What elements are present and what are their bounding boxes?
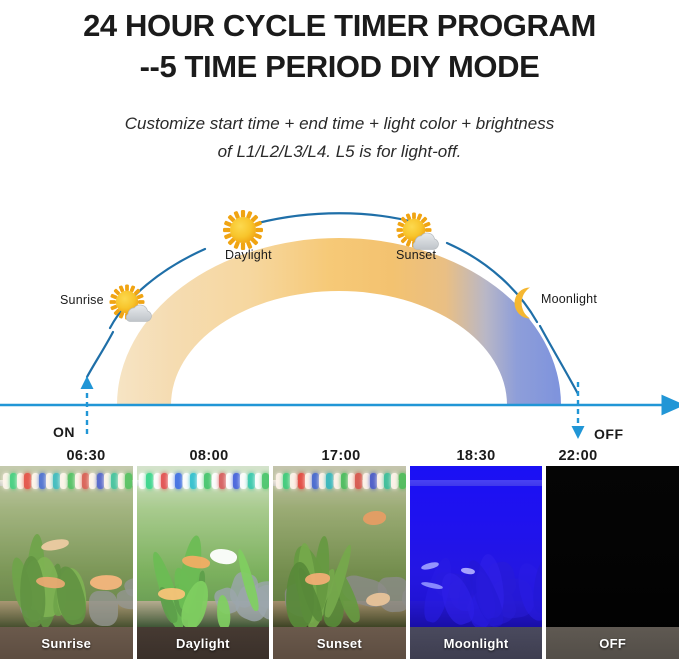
photo-caption: Daylight [137, 627, 270, 659]
light-spectrum-arc [117, 238, 561, 405]
subtitle-line-2: of L1/L2/L3/L4. L5 is for light-off. [0, 138, 679, 166]
photo-caption: Moonlight [410, 627, 543, 659]
off-marker [572, 382, 585, 439]
tick-label-4: 22:00 [558, 448, 597, 464]
sunset-icon [397, 213, 439, 250]
tick-label-0: 06:30 [66, 448, 105, 464]
lighting-mode-photo-strip: SunriseDaylightSunsetMoonlightOFF [0, 466, 679, 659]
label-sunset: Sunset [396, 248, 436, 262]
connector-daylight-sunset [258, 213, 417, 223]
timeline-diagram: Sunrise Daylight Sunset Moonlight ON OFF… [0, 186, 679, 466]
daylight-icon [223, 210, 263, 250]
tick-label-1: 08:00 [189, 448, 228, 464]
sunrise-icon [110, 285, 152, 322]
label-sunrise: Sunrise [60, 293, 104, 307]
subtitle-line-1: Customize start time + end time + light … [0, 110, 679, 138]
photo-panel-sunrise: Sunrise [0, 466, 133, 659]
infographic-page: 24 HOUR CYCLE TIMER PROGRAM --5 TIME PER… [0, 0, 679, 659]
page-title: 24 HOUR CYCLE TIMER PROGRAM --5 TIME PER… [0, 0, 679, 86]
photo-caption: Sunset [273, 627, 406, 659]
photo-panel-moonlight: Moonlight [410, 466, 543, 659]
photo-panel-off: OFF [546, 466, 679, 659]
diagram-canvas [0, 186, 679, 466]
photo-panel-daylight: Daylight [137, 466, 270, 659]
tick-label-2: 17:00 [321, 448, 360, 464]
photo-caption: OFF [546, 627, 679, 659]
axis-label-off: OFF [594, 426, 624, 442]
title-line-2: --5 TIME PERIOD DIY MODE [0, 45, 679, 86]
tick-label-3: 18:30 [456, 448, 495, 464]
on-arrowhead-up [81, 376, 94, 389]
tail-sunrise [87, 332, 113, 377]
label-daylight: Daylight [225, 248, 272, 262]
daylight-sun-disc [230, 217, 256, 243]
page-subtitle: Customize start time + end time + light … [0, 110, 679, 166]
photo-caption: Sunrise [0, 627, 133, 659]
off-arrowhead-down [572, 426, 585, 439]
axis-label-on: ON [53, 424, 75, 440]
label-moonlight: Moonlight [541, 292, 597, 306]
photo-panel-sunset: Sunset [273, 466, 406, 659]
title-line-1: 24 HOUR CYCLE TIMER PROGRAM [0, 0, 679, 45]
